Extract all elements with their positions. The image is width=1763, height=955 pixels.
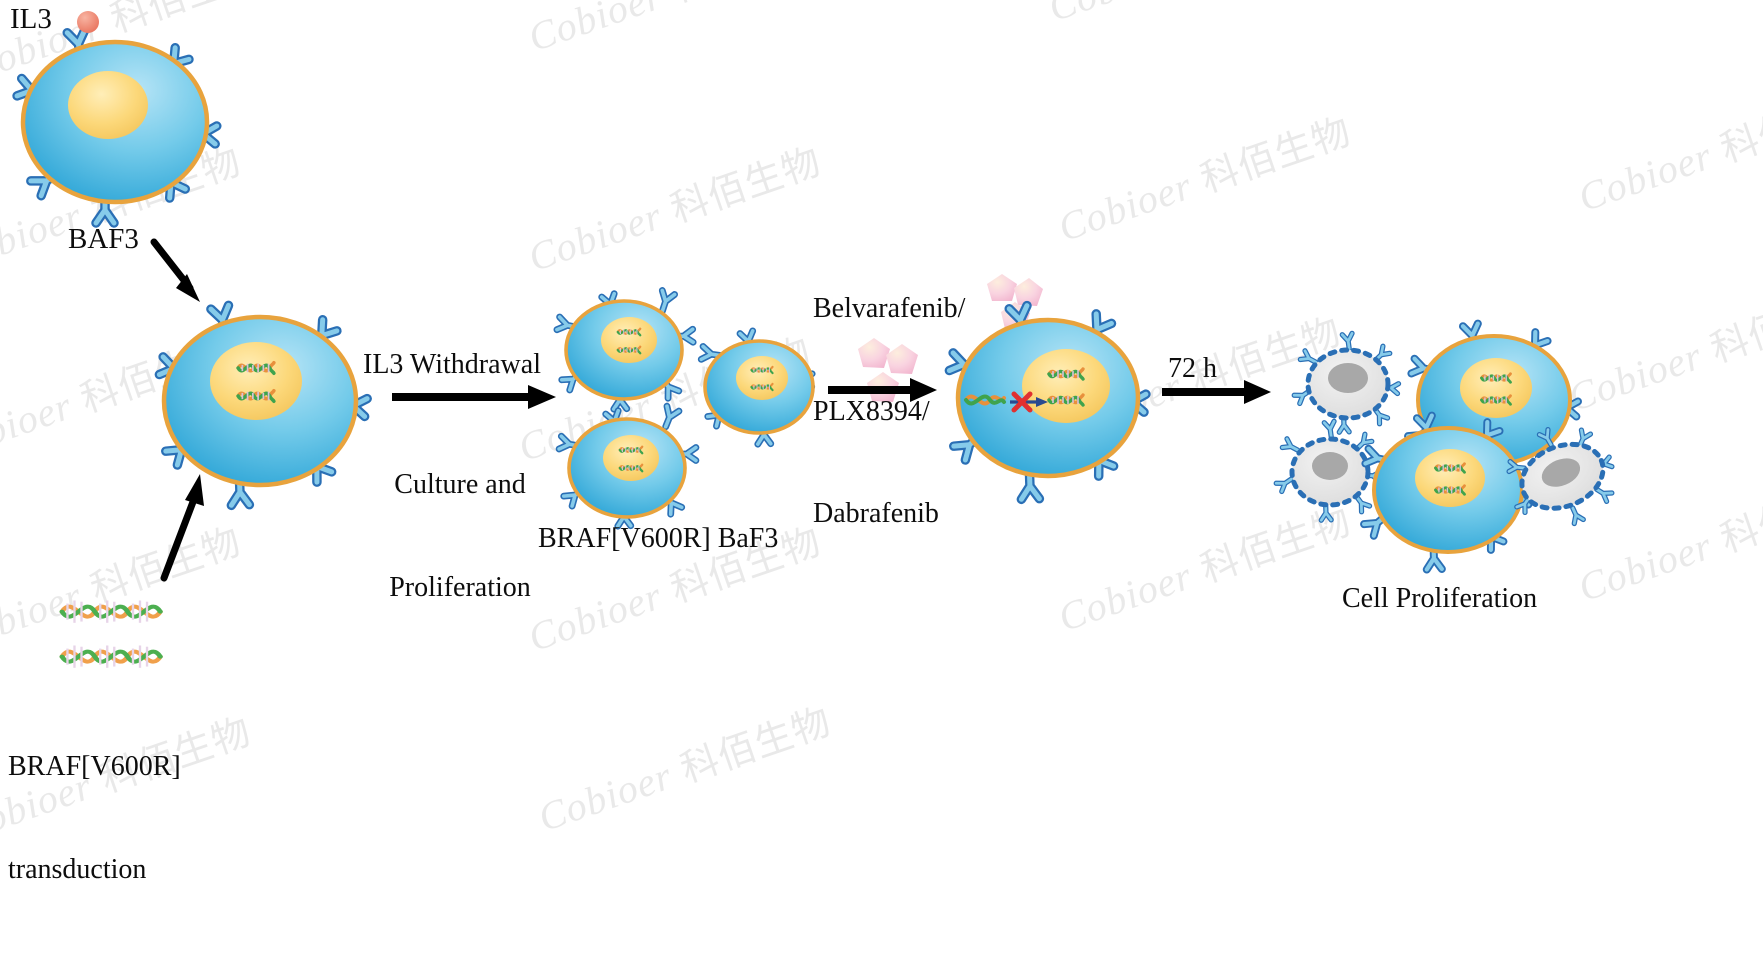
watermark-chinese: 科佰生物 (1694, 281, 1763, 375)
watermark-latin: Cobioer (1053, 553, 1198, 641)
arrow1-bottom-line1: Culture and (370, 468, 550, 502)
nucleus-dna-upper (1049, 369, 1083, 379)
watermark-chinese: 科佰生物 (1184, 111, 1357, 205)
arrow3-top-label: 72 h (1168, 352, 1217, 386)
arrow1-bottom-label: Culture and Proliferation (370, 400, 550, 673)
watermark-chinese: 科佰生物 (1704, 471, 1763, 565)
dna-helix-bottom (62, 645, 160, 667)
cell-nucleus (210, 342, 302, 420)
stage-4-inhibited-cell (938, 298, 1158, 498)
transduction-label-line1: BRAF[V600R] (8, 750, 181, 784)
drug-line3: Dabrafenib (813, 497, 965, 531)
transduction-label-line2: transduction (8, 853, 181, 887)
il3-molecule (74, 8, 104, 38)
watermark-latin: Cobioer (1043, 0, 1188, 30)
watermark-latin: Cobioer (0, 383, 78, 471)
stage-1-baf3-cell (0, 22, 230, 222)
drug-names-label: Belvarafenib/ PLX8394/ Dabrafenib (813, 224, 965, 600)
il3-label: IL3 (10, 2, 52, 37)
cell-nucleus (1415, 449, 1485, 507)
cell-nucleus (1022, 349, 1110, 423)
watermark-latin: Cobioer (1573, 133, 1718, 221)
cell-nucleus (1460, 358, 1532, 418)
cluster-cell-right (701, 331, 813, 444)
drug-line1: Belvarafenib/ (813, 292, 965, 326)
arrow-dna-to-cell (152, 456, 222, 586)
drug-line2: PLX8394/ (813, 395, 965, 429)
dead-cell-nucleus (1328, 363, 1368, 393)
watermark-chinese: 科佰生物 (654, 141, 827, 235)
watermark-chinese: 科佰生物 (654, 0, 827, 15)
dead-cell-bottom-right (1498, 420, 1628, 530)
stage-3-proliferating-cluster (552, 288, 822, 523)
figure-canvas: Cobioer科佰生物 Cobioer科佰生物 Cobioer科佰生物 Cobi… (0, 0, 1763, 848)
cell-proliferation-label: Cell Proliferation (1342, 582, 1537, 616)
watermark-latin: Cobioer (1573, 523, 1718, 611)
nucleus-dna-lower (238, 391, 274, 402)
watermark-latin: Cobioer (533, 753, 678, 841)
cluster-cell-top-left (557, 290, 693, 409)
cell-nucleus (68, 71, 148, 139)
watermark-chinese: 科佰生物 (664, 701, 837, 795)
braf-baf3-label: BRAF[V600R] BaF3 (538, 522, 778, 556)
watermark-chinese: 科佰生物 (1704, 81, 1763, 175)
transduction-label: BRAF[V600R] transduction (8, 682, 181, 955)
dna-helix-top (62, 600, 160, 622)
arrow1-top-label: IL3 Withdrawal (363, 348, 541, 382)
nucleus-dna-lower (1049, 395, 1083, 405)
dead-cell-nucleus (1312, 452, 1348, 480)
watermark-latin: Cobioer (523, 193, 668, 281)
nucleus-dna-upper (238, 363, 274, 374)
cluster-cell-bottom-left (559, 406, 696, 526)
watermark-latin: Cobioer (1053, 163, 1198, 251)
baf3-label: BAF3 (68, 222, 139, 257)
watermark-latin: Cobioer (523, 0, 668, 60)
arrow1-bottom-line2: Proliferation (370, 571, 550, 605)
